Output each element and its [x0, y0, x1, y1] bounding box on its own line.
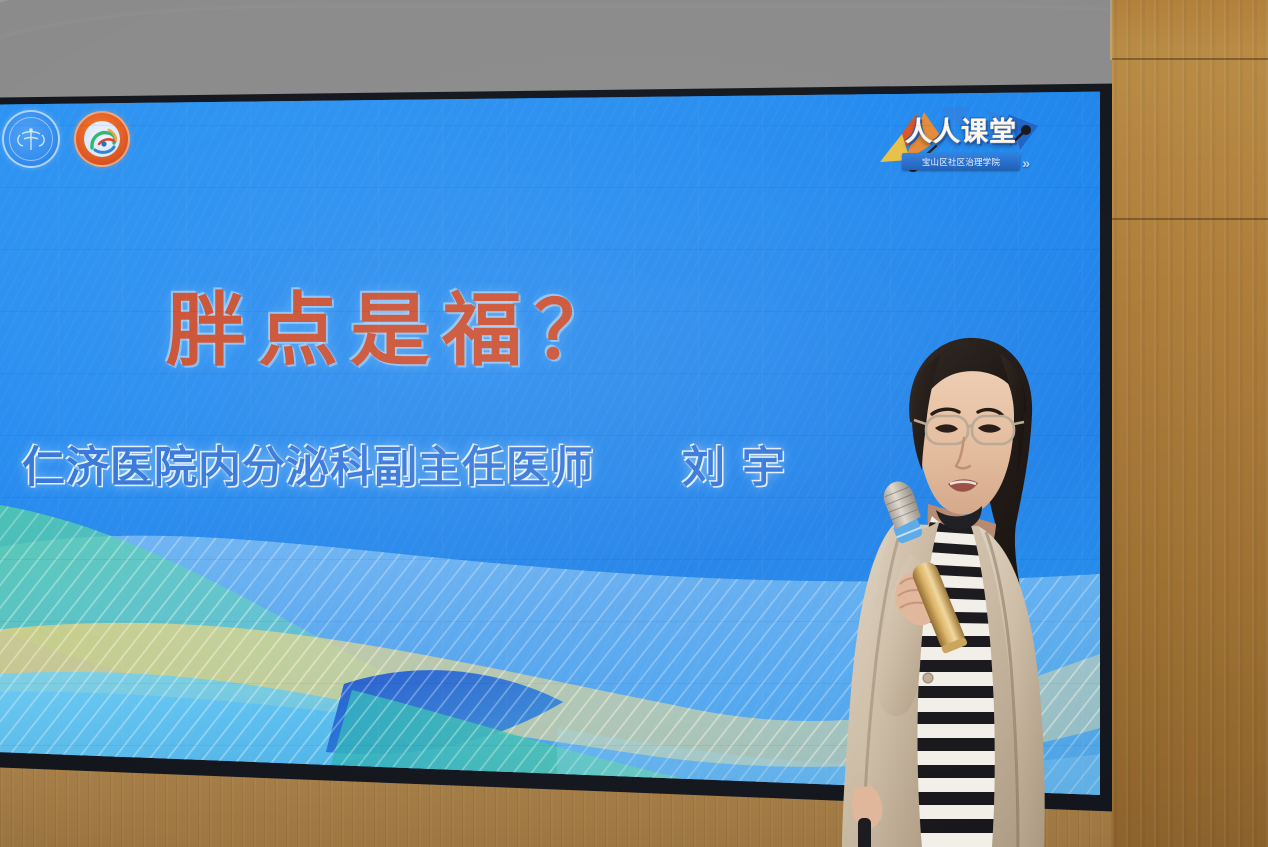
presentation-clicker	[858, 818, 871, 847]
lecture-hall-photo: 人人课堂 宝山区社区治理学院 » 胖点是福？ 仁济医院内分泌科副主任医师 刘 宇	[0, 0, 1268, 847]
renji-hospital-seal-logo	[2, 110, 60, 168]
course-logo-title: 人人课堂	[880, 110, 1042, 149]
course-logo-banner: 宝山区社区治理学院	[902, 153, 1020, 170]
course-logo-banner-text: 宝山区社区治理学院	[922, 156, 1000, 168]
swirl-emblem-icon	[83, 120, 125, 162]
wood-pillar-right	[1112, 0, 1268, 847]
slide-logo-group	[2, 110, 130, 168]
caduceus-icon	[14, 127, 48, 153]
wood-seam	[1112, 218, 1268, 220]
slide-title: 胖点是福？	[166, 266, 626, 382]
chevron-right-icon: »	[1022, 155, 1028, 171]
speaker-figure	[836, 318, 1104, 847]
wood-seam	[1112, 58, 1268, 60]
course-brand-logo: 人人课堂 宝山区社区治理学院 »	[880, 104, 1042, 176]
community-health-badge-logo	[74, 111, 130, 167]
slide-subtitle: 仁济医院内分泌科副主任医师 刘 宇	[22, 433, 786, 495]
